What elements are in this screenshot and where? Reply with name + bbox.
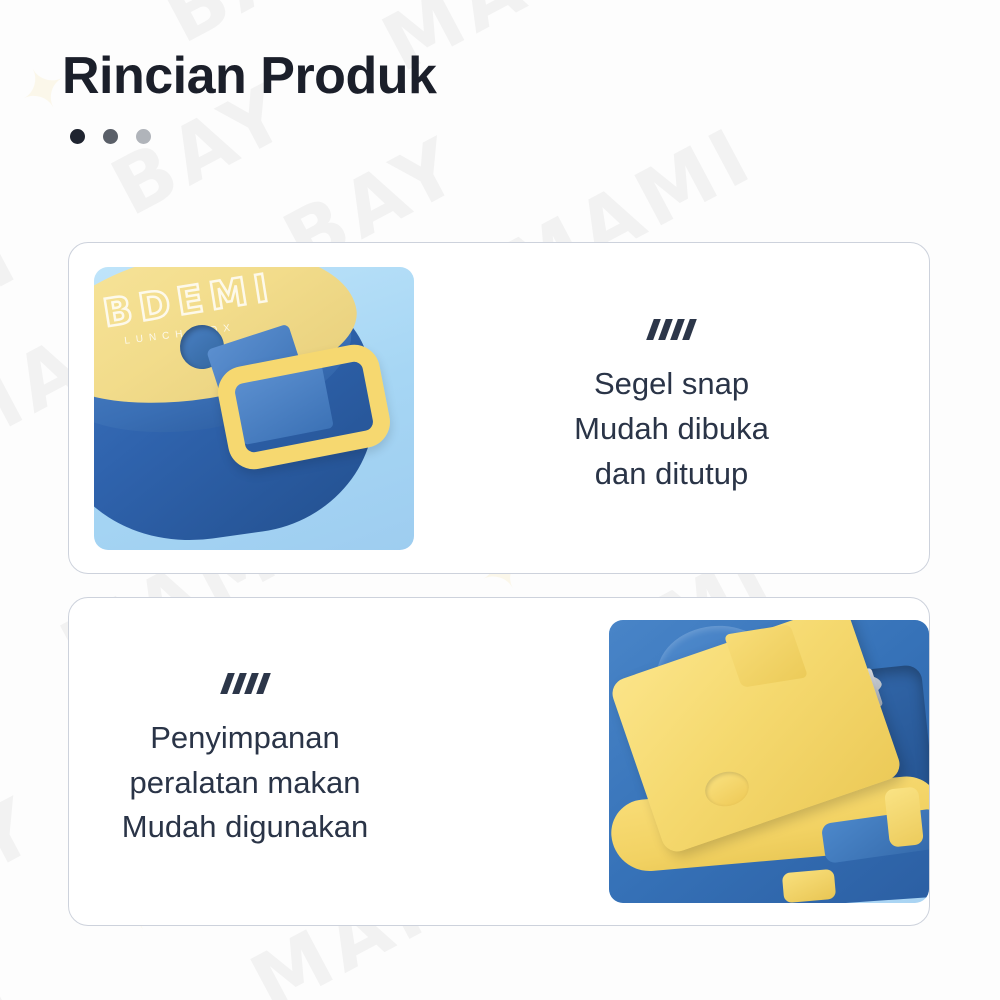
feature-line: peralatan makan <box>130 761 361 806</box>
side-clip-bottom <box>782 869 836 903</box>
feature-line: Mudah digunakan <box>122 805 368 850</box>
lunch-box-snap-buckle-photo: BDEMI LUNCH BOX <box>94 267 414 550</box>
watermark-word: MAMI <box>0 211 34 417</box>
watermark-word: MAMI <box>0 516 6 722</box>
feature-card-text: Penyimpanan peralatan makan Mudah diguna… <box>69 673 421 851</box>
product-detail-page: MAMI ✦ BAY MAMI ✦ BAY MAMI ✦ BAY ✦ MAMI … <box>0 0 1000 1000</box>
feature-line: dan ditutup <box>595 452 748 497</box>
progress-dot-1 <box>70 129 85 144</box>
feature-card-cutlery-storage: Penyimpanan peralatan makan Mudah diguna… <box>68 597 930 926</box>
page-title: Rincian Produk <box>62 48 436 105</box>
progress-dot-2 <box>103 129 118 144</box>
watermark-word: BAY <box>0 780 53 947</box>
side-clip-right <box>884 786 924 847</box>
feature-line: Segel snap <box>594 362 749 407</box>
feature-line: Mudah dibuka <box>574 407 769 452</box>
quote-marks-icon <box>650 319 693 340</box>
cutlery-storage-photo <box>609 620 929 903</box>
section-progress-dots <box>70 129 436 144</box>
feature-card-snap-seal: BDEMI LUNCH BOX Segel snap Mudah dibuka … <box>68 242 930 574</box>
feature-card-text: Segel snap Mudah dibuka dan ditutup <box>414 319 929 497</box>
watermark-word: BAY <box>0 0 185 8</box>
feature-line: Penyimpanan <box>150 716 340 761</box>
watermark-word: MAMI <box>0 939 27 1000</box>
page-header: Rincian Produk <box>62 48 436 144</box>
progress-dot-3 <box>136 129 151 144</box>
quote-marks-icon <box>224 673 267 694</box>
